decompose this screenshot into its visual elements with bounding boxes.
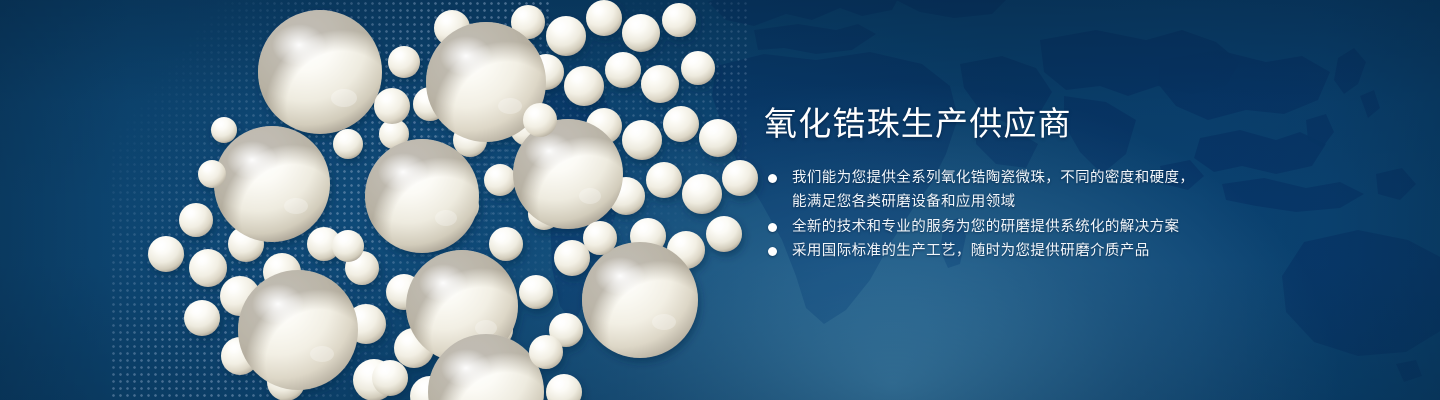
list-item-line: 全新的技术和专业的服务为您的研磨提供系统化的解决方案	[792, 215, 1262, 240]
hero-banner: 氧化锆珠生产供应商 我们能为您提供全系列氧化锆陶瓷微珠，不同的密度和硬度， 能满…	[0, 0, 1440, 400]
list-item: 我们能为您提供全系列氧化锆陶瓷微珠，不同的密度和硬度， 能满足您各类研磨设备和应…	[762, 166, 1262, 215]
bullet-dot-icon	[768, 247, 777, 256]
bullet-dot-icon	[768, 174, 777, 183]
feature-list: 我们能为您提供全系列氧化锆陶瓷微珠，不同的密度和硬度， 能满足您各类研磨设备和应…	[762, 166, 1262, 264]
list-item-line: 采用国际标准的生产工艺，随时为您提供研磨介质产品	[792, 239, 1262, 264]
banner-copy: 氧化锆珠生产供应商 我们能为您提供全系列氧化锆陶瓷微珠，不同的密度和硬度， 能满…	[762, 104, 1262, 264]
bullet-dot-icon	[768, 223, 777, 232]
zirconia-beads-image	[0, 0, 760, 400]
list-item-line: 我们能为您提供全系列氧化锆陶瓷微珠，不同的密度和硬度，	[792, 166, 1262, 191]
page-title: 氧化锆珠生产供应商	[764, 104, 1262, 144]
list-item-line: 能满足您各类研磨设备和应用领域	[792, 190, 1262, 215]
list-item: 采用国际标准的生产工艺，随时为您提供研磨介质产品	[762, 239, 1262, 264]
list-item: 全新的技术和专业的服务为您的研磨提供系统化的解决方案	[762, 215, 1262, 240]
